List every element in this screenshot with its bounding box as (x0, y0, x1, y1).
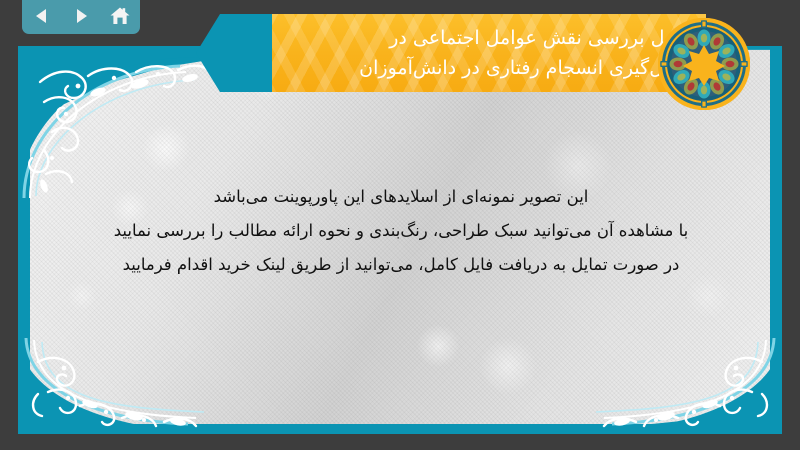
title-arrow-notch (196, 14, 272, 92)
title-line-1: کامل بررسی نقش عوامل اجتماعی در (389, 23, 690, 53)
body-line-1: این تصویر نمونه‌ای از اسلایدهای این پاور… (48, 180, 754, 214)
slide-body-text: این تصویر نمونه‌ای از اسلایدهای این پاور… (48, 138, 754, 282)
home-button[interactable] (105, 2, 135, 30)
title-band: کامل بررسی نقش عوامل اجتماعی در شکل‌گیری… (268, 14, 706, 92)
home-icon (109, 5, 131, 27)
body-line-3: در صورت تمایل به دریافت فایل کامل، می‌تو… (48, 248, 754, 282)
panel-bottom-border (18, 424, 782, 434)
panel-left-border (18, 46, 30, 434)
triangle-right-icon (71, 6, 91, 26)
title-line-2: شکل‌گیری انسجام رفتاری در دانش‌آموزان (359, 53, 690, 83)
panel-right-border (770, 46, 782, 434)
navigation-bar (22, 0, 140, 34)
slide-viewer: این تصویر نمونه‌ای از اسلایدهای این پاور… (0, 0, 800, 450)
forward-button[interactable] (66, 2, 96, 30)
slide-title-bar: کامل بررسی نقش عوامل اجتماعی در شکل‌گیری… (196, 14, 716, 92)
back-button[interactable] (27, 2, 57, 30)
triangle-left-icon (32, 6, 52, 26)
rosette-medallion-icon (658, 18, 750, 110)
body-line-2: با مشاهده آن می‌توانید سبک طراحی، رنگ‌بن… (48, 214, 754, 248)
